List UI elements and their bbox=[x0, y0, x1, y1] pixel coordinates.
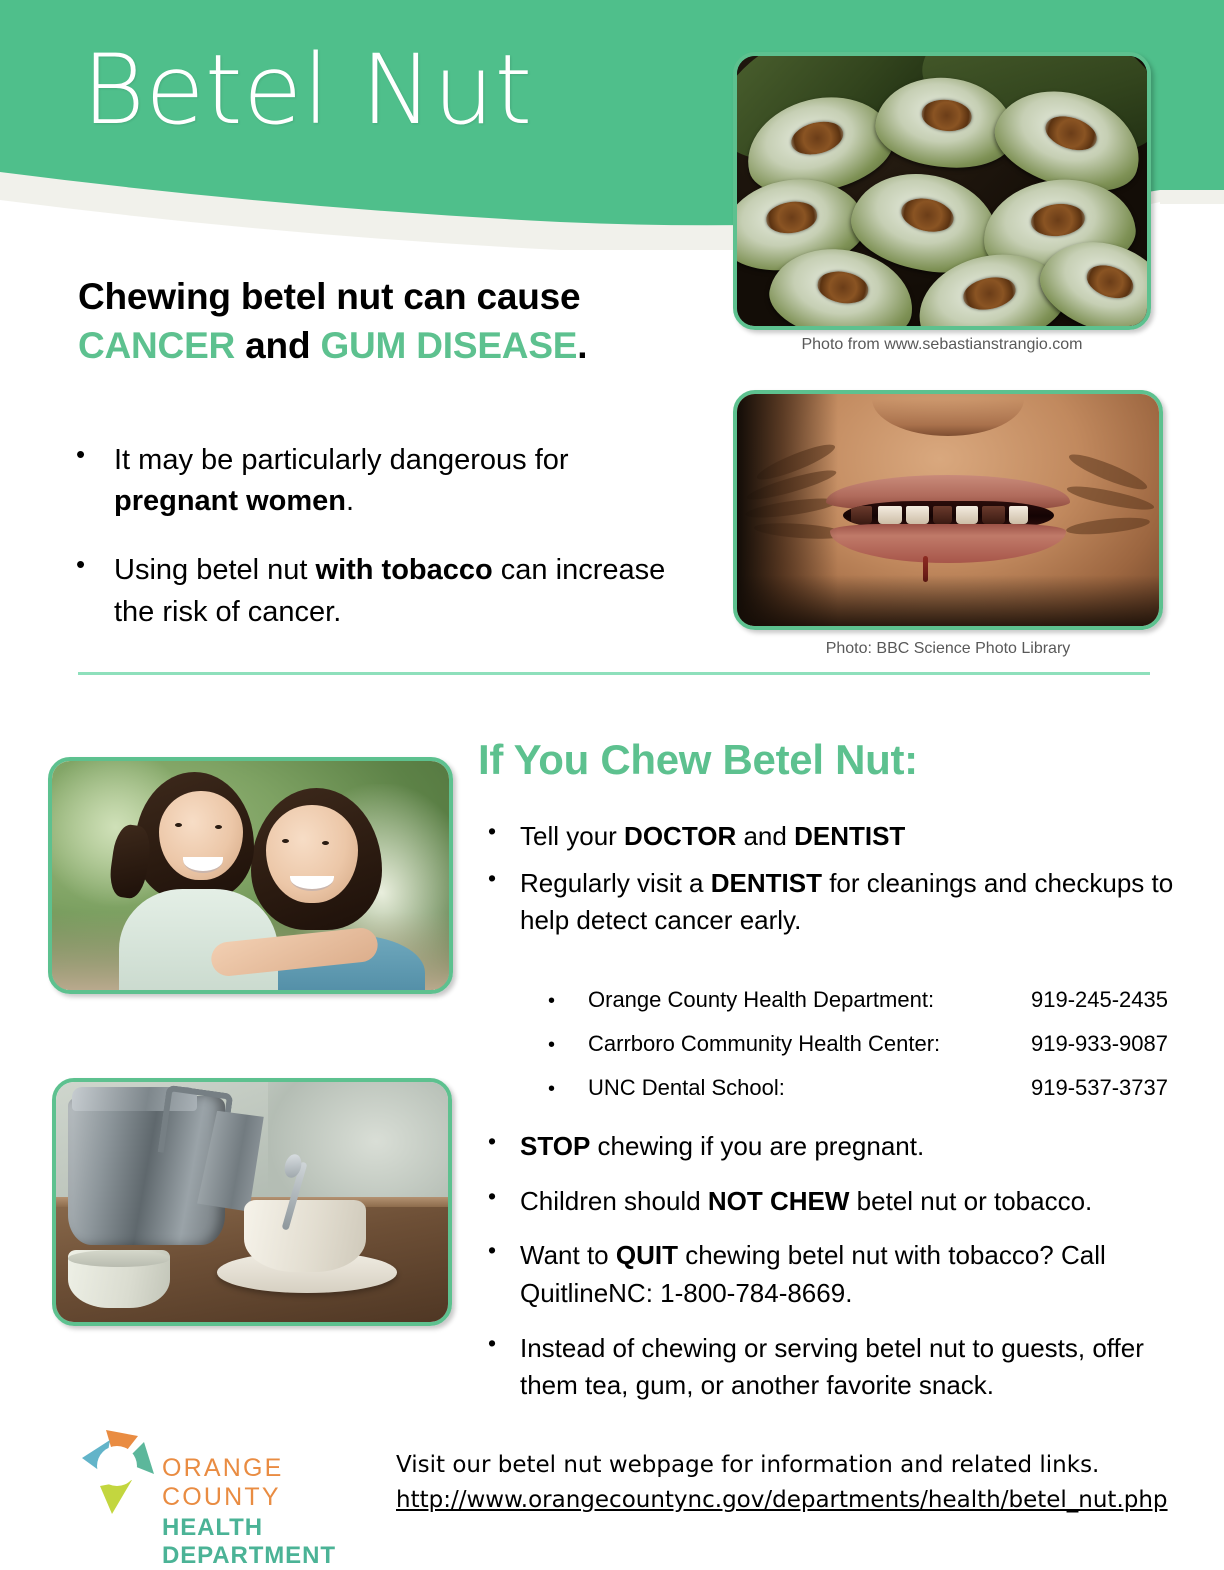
contact-name: Orange County Health Department: bbox=[588, 978, 1006, 1022]
stained-teeth-mouth-image bbox=[737, 394, 1159, 626]
list-item: Want to QUIT chewing betel nut with toba… bbox=[478, 1237, 1188, 1312]
logo-line-2: HEALTH DEPARTMENT bbox=[162, 1514, 376, 1570]
bullet-text-bold: pregnant women bbox=[114, 485, 346, 517]
bullet-text-pre: Regularly visit a bbox=[520, 868, 711, 898]
bullet-text-bold: NOT CHEW bbox=[708, 1186, 850, 1216]
contact-name: UNC Dental School: bbox=[588, 1066, 1006, 1110]
bullet-text-bold: DOCTOR bbox=[624, 821, 736, 851]
row-bullet bbox=[548, 1066, 588, 1110]
section-heading: If You Chew Betel Nut: bbox=[478, 736, 918, 784]
headline-gum-disease: GUM DISEASE bbox=[320, 325, 577, 366]
logo-wordmark: ORANGE COUNTY HEALTH DEPARTMENT bbox=[162, 1454, 376, 1570]
orange-county-health-department-logo: ORANGE COUNTY HEALTH DEPARTMENT bbox=[76, 1424, 376, 1540]
headline-part-3: . bbox=[577, 325, 587, 366]
tooth bbox=[878, 506, 901, 525]
headline-part-1: Chewing betel nut can cause bbox=[78, 276, 580, 317]
main-headline: Chewing betel nut can cause CANCER and G… bbox=[78, 272, 668, 370]
section-divider bbox=[78, 672, 1150, 675]
list-item: It may be particularly dangerous for pre… bbox=[62, 440, 672, 522]
table-row: Carrboro Community Health Center: 919-93… bbox=[548, 1022, 1168, 1066]
logo-line-1: ORANGE COUNTY bbox=[162, 1454, 376, 1512]
bullet-text-post: . bbox=[346, 485, 354, 517]
contact-phone[interactable]: 919-537-3737 bbox=[1006, 1066, 1168, 1110]
advice-bullet-list-top: Tell your DOCTOR and DENTIST Regularly v… bbox=[478, 818, 1178, 949]
bullet-text-pre: Using betel nut bbox=[114, 554, 316, 586]
table-row: Orange County Health Department: 919-245… bbox=[548, 978, 1168, 1022]
page-title: Betel Nut bbox=[82, 40, 533, 141]
list-item: Regularly visit a DENTIST for cleanings … bbox=[478, 865, 1178, 939]
bullet-text-bold: STOP bbox=[520, 1131, 590, 1161]
photo-shadow bbox=[737, 575, 1159, 626]
bullet-text-mid: and bbox=[736, 821, 794, 851]
headline-part-2: and bbox=[235, 325, 320, 366]
tooth bbox=[906, 506, 929, 525]
row-bullet bbox=[548, 978, 588, 1022]
bullet-text-bold: with tobacco bbox=[316, 554, 493, 586]
bullet-text-pre: Want to bbox=[520, 1240, 616, 1270]
bullet-text-bold: DENTIST bbox=[711, 868, 822, 898]
footer-line-1: Visit our betel nut webpage for informat… bbox=[396, 1448, 1156, 1483]
bullet-text-pre: Children should bbox=[520, 1186, 708, 1216]
teapot-and-tea-cups-image bbox=[56, 1082, 448, 1322]
list-item: Tell your DOCTOR and DENTIST bbox=[478, 818, 1178, 855]
footer-info: Visit our betel nut webpage for informat… bbox=[396, 1448, 1156, 1517]
contacts-table: Orange County Health Department: 919-245… bbox=[548, 978, 1168, 1110]
stained-tooth bbox=[982, 506, 1005, 525]
photo-caption-leaves: Photo from www.sebastianstrangio.com bbox=[733, 336, 1151, 354]
bullet-text-bold-2: DENTIST bbox=[794, 821, 905, 851]
photo-credit-tea: Photo by Emilie Nicole bbox=[440, 1310, 452, 1326]
tooth bbox=[956, 506, 977, 525]
photo-caption-mouth: Photo: BBC Science Photo Library bbox=[733, 640, 1163, 658]
small-cup-rim bbox=[68, 1250, 170, 1267]
girl-eye bbox=[175, 823, 182, 827]
teapot-and-tea-cups-photo: Photo by Emilie Nicole bbox=[52, 1078, 452, 1326]
row-bullet bbox=[548, 1022, 588, 1066]
bullet-text-plain: Instead of chewing or serving betel nut … bbox=[520, 1333, 1144, 1401]
bullet-text-pre: It may be particularly dangerous for bbox=[114, 444, 569, 476]
betel-nut-webpage-link[interactable]: http://www.orangecountync.gov/department… bbox=[396, 1487, 1168, 1513]
contact-phone[interactable]: 919-245-2435 bbox=[1006, 978, 1168, 1022]
table-row: UNC Dental School: 919-537-3737 bbox=[548, 1066, 1168, 1110]
woman-eye bbox=[282, 839, 289, 843]
list-item: Using betel nut with tobacco can increas… bbox=[62, 550, 672, 632]
list-item: STOP chewing if you are pregnant. bbox=[478, 1128, 1188, 1166]
girl-eye bbox=[215, 825, 222, 829]
mother-and-daughter-image bbox=[52, 761, 449, 990]
betel-leaf-quids-image bbox=[737, 56, 1147, 326]
bullet-text-pre: Tell your bbox=[520, 821, 624, 851]
contact-phone[interactable]: 919-933-9087 bbox=[1006, 1022, 1168, 1066]
mother-and-daughter-photo bbox=[48, 757, 453, 994]
headline-cancer: CANCER bbox=[78, 325, 235, 366]
stained-teeth-mouth-photo bbox=[733, 390, 1163, 630]
list-item: Children should NOT CHEW betel nut or to… bbox=[478, 1183, 1188, 1221]
bullet-text-post: chewing if you are pregnant. bbox=[590, 1131, 924, 1161]
bullet-text-bold: QUIT bbox=[616, 1240, 678, 1270]
logo-mark-icon bbox=[76, 1424, 168, 1524]
betel-leaf-quids-photo bbox=[733, 52, 1151, 330]
tooth bbox=[1009, 506, 1028, 525]
risk-bullet-list: It may be particularly dangerous for pre… bbox=[62, 440, 672, 661]
bullet-text-post: betel nut or tobacco. bbox=[849, 1186, 1092, 1216]
stained-tooth bbox=[851, 506, 872, 525]
contact-name: Carrboro Community Health Center: bbox=[588, 1022, 1006, 1066]
list-item: Instead of chewing or serving betel nut … bbox=[478, 1330, 1188, 1405]
advice-bullet-list-bottom: STOP chewing if you are pregnant. Childr… bbox=[478, 1128, 1188, 1422]
stained-tooth bbox=[933, 506, 952, 525]
